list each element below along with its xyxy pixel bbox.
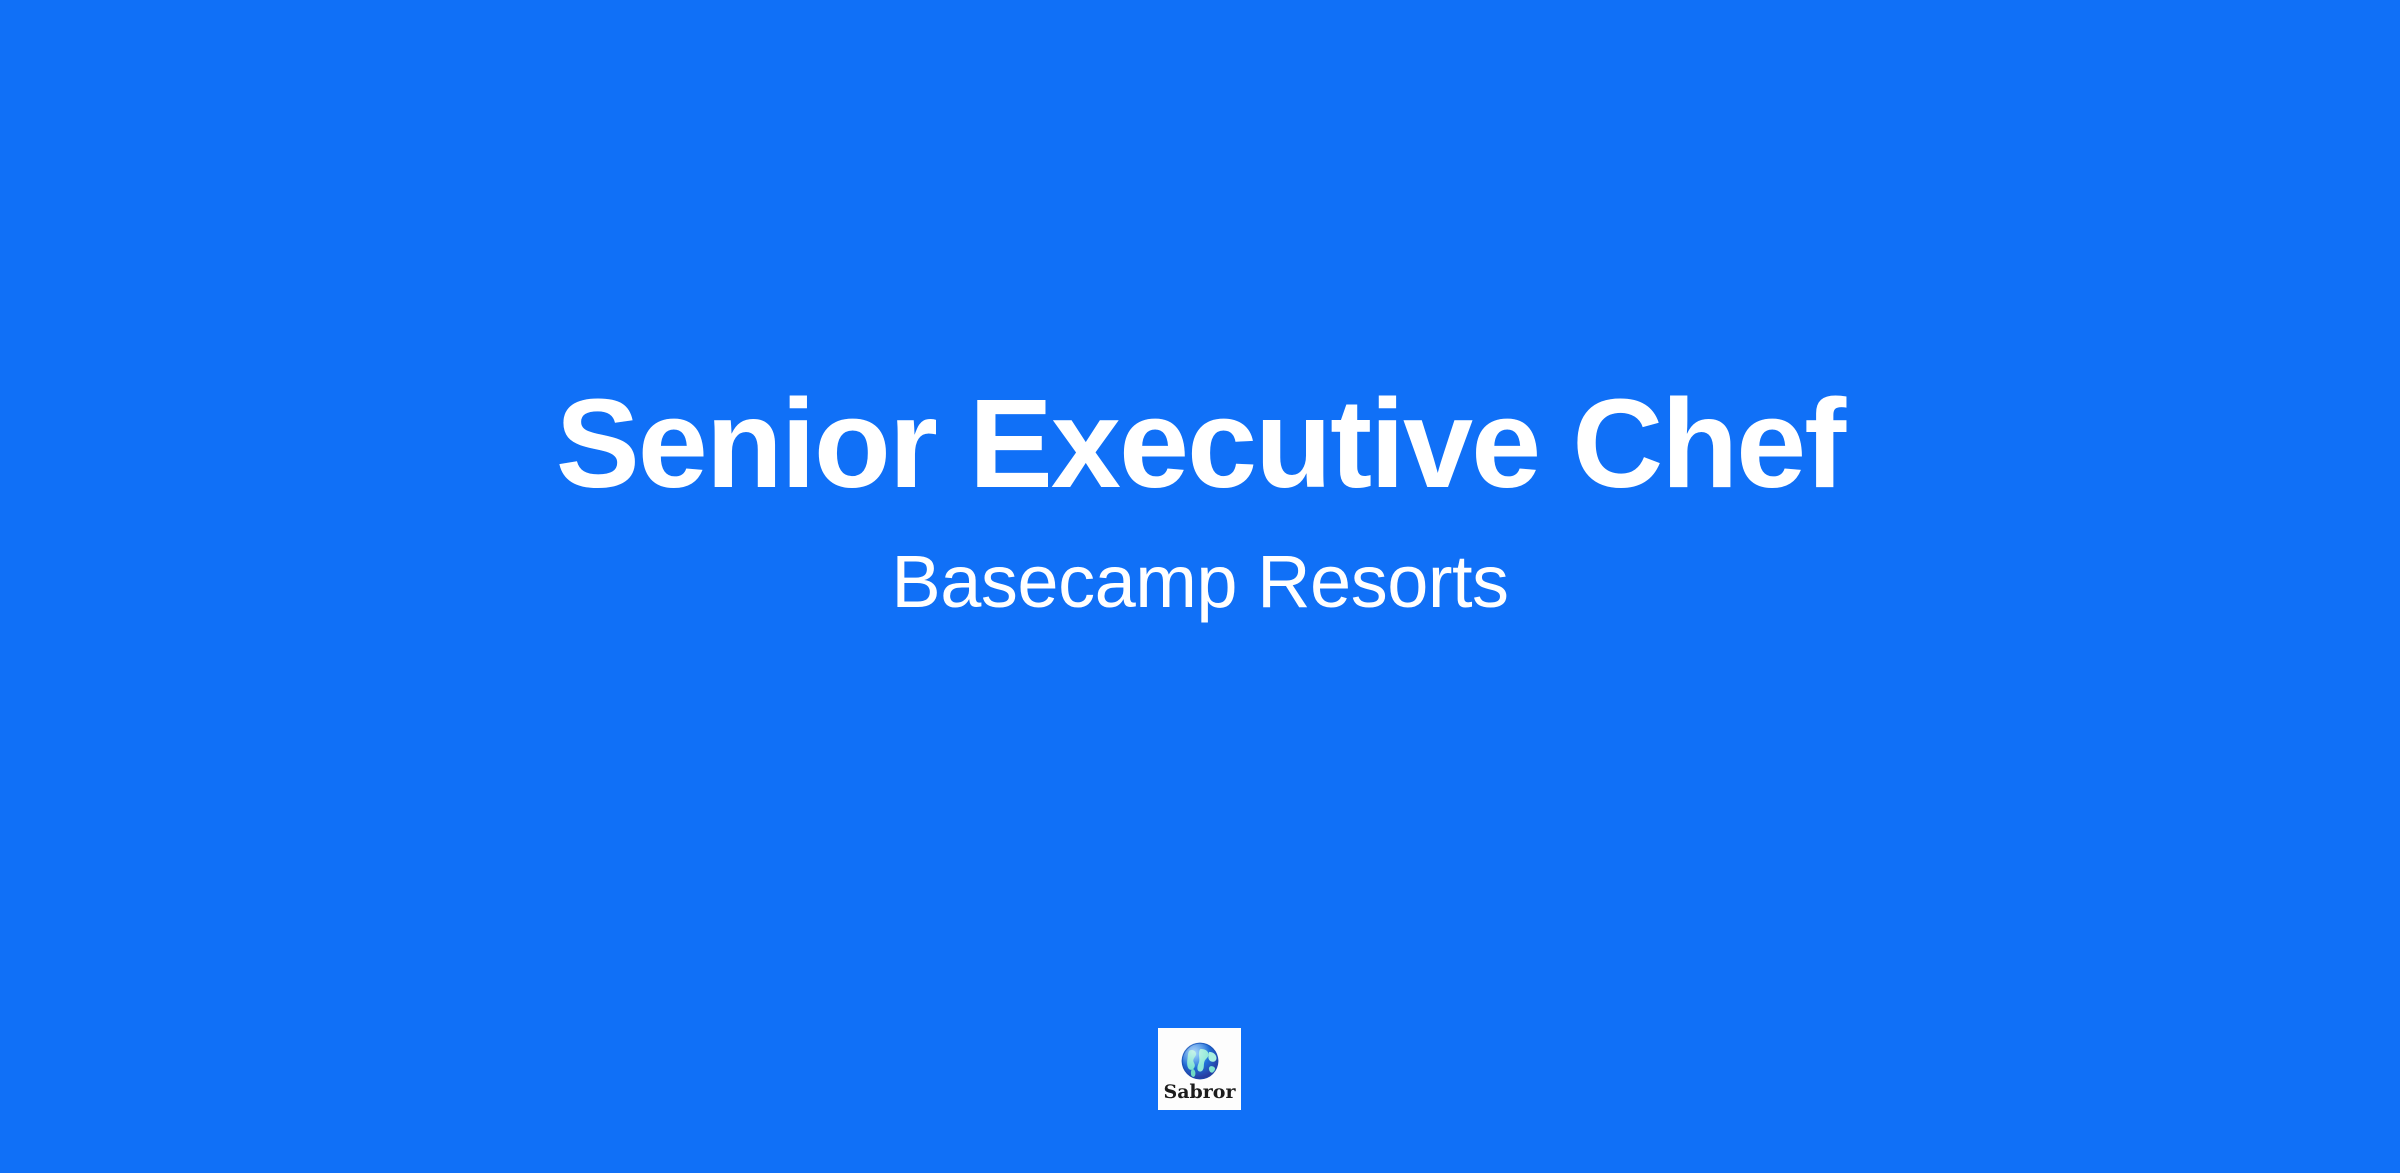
hero-section: Senior Executive Chef Basecamp Resorts	[0, 0, 2400, 1173]
globe-icon	[1179, 1040, 1221, 1082]
page-title: Senior Executive Chef	[0, 381, 2400, 507]
job-posting-hero-page: Senior Executive Chef Basecamp Resorts	[0, 0, 2400, 1173]
company-logo[interactable]: Sabror	[1158, 1028, 1241, 1110]
company-wordmark: Sabror	[1163, 1083, 1235, 1102]
company-name: Basecamp Resorts	[0, 545, 2400, 619]
